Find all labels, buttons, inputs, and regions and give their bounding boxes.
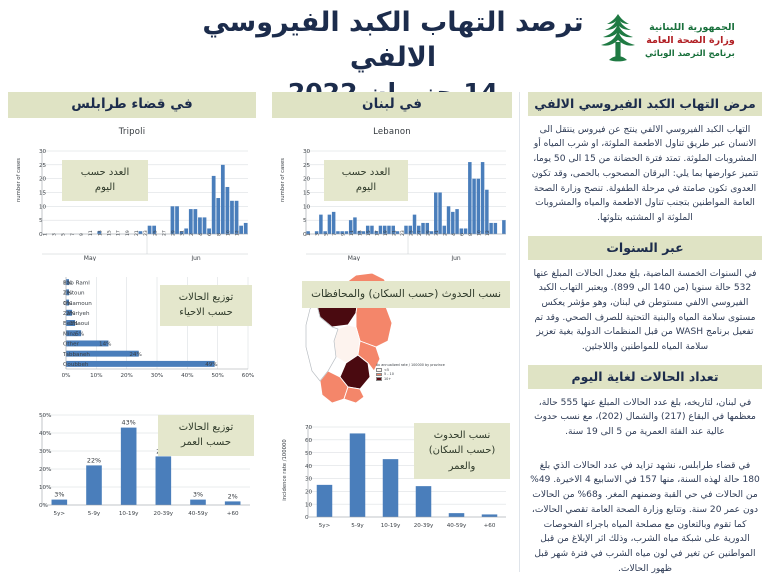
map-legend-row-0: <5: [376, 368, 445, 372]
logo-text: الجمهورية اللبنانية وزارة الصحة العامة ب…: [645, 18, 735, 60]
bar-3: [193, 209, 197, 234]
logo-line-program: برنامج الترصد الوبائي: [645, 48, 735, 60]
datalabel-5-9y: 22%: [87, 456, 101, 464]
svg-text:9: 9: [79, 233, 85, 236]
cat-<5y: <5y: [54, 511, 66, 517]
ytick-15: 15: [303, 190, 311, 196]
xtick-12: 12: [485, 230, 491, 236]
cat-20-39y: 20-39y: [154, 511, 174, 517]
svg-text:27: 27: [417, 230, 423, 236]
map-legend-title: Av annualized rate / 100000 by province: [376, 363, 445, 367]
bar-undefined: [494, 223, 497, 234]
xtick-29: 29: [425, 230, 431, 236]
xtick-40%: 40%: [181, 373, 193, 379]
text-section-heading-1: عبر السنوات: [528, 236, 762, 260]
xtick-0%: 0%: [62, 373, 71, 379]
svg-text:10: 10: [476, 230, 482, 236]
xtick-4: 4: [198, 233, 204, 236]
xtick-13: 13: [97, 230, 103, 236]
svg-text:19: 19: [383, 230, 389, 236]
text-section-body-1: في السنوات الخمسة الماضية، بلغ معدل الحا…: [528, 260, 762, 359]
text-section-body-2: في لبنان، لتاريخه، بلغ عدد الحالات المبل…: [528, 389, 762, 444]
column-tripoli: في قضاء طرابلس Tripoli 051015202530 1357…: [8, 92, 256, 533]
ytick-10: 10: [39, 204, 47, 210]
xtick-23: 23: [143, 230, 149, 236]
svg-text:7: 7: [70, 233, 76, 236]
datalabel-Qoubbeh: 49%: [205, 362, 217, 368]
chart-tripoli-age: 0%10%20%30%40%50% 3%22%43%27%3%2% <5y5-9…: [8, 403, 256, 533]
svg-text:3: 3: [52, 233, 58, 236]
datalabel-Mina: 5%: [75, 331, 84, 337]
svg-text:12: 12: [485, 230, 491, 236]
xtick-5: 5: [323, 233, 329, 236]
xtick-6: 6: [459, 233, 465, 236]
xtick-20%: 20%: [120, 373, 132, 379]
cat-<5y: <5y: [319, 523, 331, 529]
svg-text:29: 29: [171, 230, 177, 236]
datalabel-10-19y: 43%: [122, 418, 136, 426]
svg-text:13: 13: [97, 230, 103, 236]
svg-text:3: 3: [315, 233, 321, 236]
xtick-3: 3: [315, 233, 321, 236]
column-lebanon: في لبنان Lebanon 051015202530 1357911131…: [272, 92, 512, 545]
ytick-20: 20: [303, 177, 311, 183]
chart-tripoli-epicurve: Tripoli 051015202530 1357911131517192123…: [8, 127, 256, 265]
bar-5-9y: [86, 465, 102, 505]
ytick-30: 30: [303, 149, 311, 155]
xtick-1: 1: [42, 233, 48, 236]
svg-text:8: 8: [216, 233, 222, 236]
xtick-2: 2: [189, 233, 195, 236]
ytick-25: 25: [303, 163, 311, 169]
svg-text:27: 27: [161, 230, 167, 236]
datalabel-Zeitoun: 1%: [63, 290, 72, 296]
month-label-jun: Jun: [450, 255, 461, 261]
chart-lebanon-incidence: 010203040506070 <5y5-9y10-19y20-39y40-59…: [272, 415, 512, 545]
bar-10: [477, 179, 480, 234]
column-divider: [519, 92, 520, 572]
xtick-17: 17: [374, 230, 380, 236]
datalabel-Qalamoun: 1%: [63, 301, 72, 307]
xtick-23: 23: [400, 230, 406, 236]
bar-undefined: [502, 220, 505, 234]
svg-text:4: 4: [451, 233, 457, 236]
cat-5-9y: 5-9y: [88, 511, 101, 517]
svg-text:2: 2: [442, 233, 448, 236]
datalabel-40-59y: 3%: [193, 490, 203, 498]
bar-1: [438, 192, 441, 234]
text-section-heading-0: مرض التهاب الكبد الفيروسي الالفي: [528, 92, 762, 116]
svg-text:12: 12: [235, 230, 241, 236]
svg-text:1: 1: [306, 233, 312, 236]
svg-text:25: 25: [152, 230, 158, 236]
bar-20-39y: [156, 456, 172, 505]
cat-Qoubbeh: Qoubbeh: [63, 362, 89, 368]
datalabel-Tabbaneh: 24%: [129, 352, 141, 358]
dashboard-page: ترصد التهاب الكبد الفيروسي الالفي 14 حزي…: [0, 0, 768, 576]
cat-10-19y: 10-19y: [381, 523, 401, 529]
logo-line-ministry: وزارة الصحة العامة: [645, 34, 735, 47]
xtick-15: 15: [106, 230, 112, 236]
legend-swatch-2: [376, 377, 382, 381]
province-nabatieh: [344, 387, 364, 403]
xtick-10: 10: [476, 230, 482, 236]
bar-8: [216, 198, 220, 234]
bar-5: [203, 217, 207, 234]
xtick-30%: 30%: [151, 373, 163, 379]
page-header: ترصد التهاب الكبد الفيروسي الالفي 14 حزي…: [0, 0, 768, 90]
bar-40-59y: [449, 513, 465, 517]
svg-text:15: 15: [366, 230, 372, 236]
xtick-9: 9: [340, 233, 346, 236]
svg-text:29: 29: [425, 230, 431, 236]
ytick-70: 70: [305, 425, 313, 431]
svg-text:2: 2: [189, 233, 195, 236]
xtick-17: 17: [116, 230, 122, 236]
bar-29: [171, 206, 175, 234]
bar-10: [226, 187, 230, 234]
ytick-40%: 40%: [39, 431, 51, 437]
cat-10-19y: 10-19y: [119, 511, 139, 517]
ytick-60: 60: [305, 438, 313, 444]
xtick-27: 27: [417, 230, 423, 236]
bar-<5y: [317, 485, 333, 517]
bar-4: [319, 214, 322, 233]
svg-text:11: 11: [349, 230, 355, 236]
xtick-8: 8: [216, 233, 222, 236]
bar-9: [472, 179, 475, 234]
svg-text:11: 11: [88, 230, 94, 236]
cat-40-59y: 40-59y: [447, 523, 467, 529]
title-line-1: ترصد التهاب الكبد الفيروسي الالفي: [193, 6, 593, 75]
bar-5-9y: [350, 433, 366, 517]
xtick-9: 9: [79, 233, 85, 236]
xtick-31: 31: [434, 230, 440, 236]
bar-40-59y: [190, 499, 206, 504]
bar-7: [332, 212, 335, 234]
xtick-31: 31: [180, 230, 186, 236]
xtick-19: 19: [125, 230, 131, 236]
text-section-body-0: التهاب الكبد الفيروسي الالفي ينتج عن فير…: [528, 116, 762, 230]
datalabel-Zahiriyeh: 2%: [66, 311, 75, 317]
xtick-6: 6: [207, 233, 213, 236]
xtick-13: 13: [357, 230, 363, 236]
bar-5: [455, 209, 458, 234]
xtick-27: 27: [161, 230, 167, 236]
bar-2: [189, 209, 193, 234]
axis-label-incidence-y: incidence rate /100000: [282, 433, 288, 507]
legend-label-2: 10+: [384, 377, 391, 381]
ytick-40: 40: [305, 464, 313, 470]
datalabel-<5y: 3%: [54, 490, 64, 498]
chart-title-lebanon: Lebanon: [272, 127, 512, 137]
svg-text:17: 17: [116, 230, 122, 236]
bar-8: [468, 162, 471, 234]
annotation-tripoli-epicurve: العدد حسب اليوم: [62, 160, 148, 201]
bar-3: [447, 206, 450, 234]
cat-Other: Other: [63, 341, 80, 347]
ytick-10%: 10%: [39, 485, 51, 491]
datalabel-60+: 2%: [228, 492, 238, 500]
legend-label-1: 5 - 10: [384, 372, 394, 376]
legend-swatch-1: [376, 373, 382, 377]
bar-10-19y: [121, 427, 137, 504]
svg-text:21: 21: [134, 230, 140, 236]
logo-line-republic: الجمهورية اللبنانية: [645, 21, 735, 34]
month-label-may: May: [84, 255, 97, 261]
bar-2: [443, 226, 446, 234]
xtick-1: 1: [306, 233, 312, 236]
bar-31: [434, 192, 437, 234]
svg-text:19: 19: [125, 230, 131, 236]
xtick-7: 7: [70, 233, 76, 236]
svg-text:21: 21: [391, 230, 397, 236]
bar-60+: [482, 514, 498, 517]
xtick-7: 7: [332, 233, 338, 236]
svg-text:9: 9: [340, 233, 346, 236]
xtick-2: 2: [442, 233, 448, 236]
annotation-tripoli-neighborhoods: توزيع الحالات حسب الاحياء: [160, 285, 252, 326]
bar-9: [221, 165, 225, 234]
xtick-4: 4: [451, 233, 457, 236]
svg-text:25: 25: [408, 230, 414, 236]
svg-text:15: 15: [106, 230, 112, 236]
xtick-10%: 10%: [90, 373, 102, 379]
bar-12: [485, 190, 488, 234]
ytick-10: 10: [305, 502, 313, 508]
ministry-logo: الجمهورية اللبنانية وزارة الصحة العامة ب…: [596, 8, 762, 70]
bar-11: [230, 201, 234, 234]
xtick-11: 11: [349, 230, 355, 236]
bar-7: [212, 176, 216, 234]
ytick-50: 50: [305, 451, 313, 457]
xtick-19: 19: [383, 230, 389, 236]
xtick-21: 21: [391, 230, 397, 236]
bar-12: [235, 201, 239, 234]
chart-title-tripoli: Tripoli: [8, 127, 256, 137]
chart-lebanon-epicurve: Lebanon 051015202530 1357911131517192123…: [272, 127, 512, 265]
annotation-lebanon-map: نسب الحدوث (حسب السكان) والمحافظات: [302, 281, 510, 308]
ytick-5: 5: [39, 218, 43, 224]
svg-text:31: 31: [434, 230, 440, 236]
datalabel-Bab Raml: 1%: [63, 280, 72, 286]
svg-text:1: 1: [42, 233, 48, 236]
svg-text:23: 23: [400, 230, 406, 236]
xtick-10: 10: [226, 230, 232, 236]
xtick-29: 29: [171, 230, 177, 236]
datalabel-Other: 14%: [99, 341, 111, 347]
ytick-0: 0: [305, 515, 309, 521]
annotation-tripoli-age: توزيع الحالات حسب العمر: [158, 415, 254, 456]
month-label-jun: Jun: [190, 255, 201, 261]
axis-label-tripoli-y: number of cases: [16, 150, 22, 210]
cat-40-59y: 40-59y: [188, 511, 208, 517]
legend-swatch-0: [376, 368, 382, 372]
ytick-20: 20: [305, 489, 313, 495]
column-text: مرض التهاب الكبد الفيروسي الالفيالتهاب ا…: [528, 92, 762, 576]
bar-4: [451, 212, 454, 234]
bar-6: [328, 214, 331, 233]
svg-text:23: 23: [143, 230, 149, 236]
banner-lebanon: في لبنان: [272, 92, 512, 118]
ytick-30: 30: [305, 476, 313, 482]
bar-10-19y: [383, 459, 399, 517]
map-legend-row-1: 5 - 10: [376, 372, 445, 376]
ytick-25: 25: [39, 163, 47, 169]
ytick-5: 5: [303, 218, 307, 224]
ytick-30%: 30%: [39, 449, 51, 455]
cat-60+: 60+: [484, 523, 496, 529]
bar-11: [481, 162, 484, 234]
ytick-20%: 20%: [39, 467, 51, 473]
bar-30: [175, 206, 179, 234]
axis-label-lebanon-y: number of cases: [280, 150, 286, 210]
annotation-lebanon-epicurve: العدد حسب اليوم: [324, 160, 408, 201]
cedar-tree-icon: [596, 12, 640, 66]
chart-tripoli-neighborhoods: Bab RamlZeitounQalamounZahiriyehBeddaoui…: [8, 271, 256, 393]
bar-<5y: [52, 499, 68, 504]
xtick-3: 3: [52, 233, 58, 236]
svg-text:13: 13: [357, 230, 363, 236]
svg-text:6: 6: [207, 233, 213, 236]
cat-20-39y: 20-39y: [414, 523, 434, 529]
ytick-50%: 50%: [39, 413, 51, 419]
ytick-0%: 0%: [39, 503, 48, 509]
xtick-25: 25: [408, 230, 414, 236]
datalabel-Beddaoui: 3%: [69, 321, 78, 327]
xtick-12: 12: [235, 230, 241, 236]
svg-text:5: 5: [61, 233, 67, 236]
text-section-body-3: في قضاء طرابلس، نشهد تزايد في عدد الحالا…: [528, 452, 762, 576]
cat-5-9y: 5-9y: [351, 523, 364, 529]
bar-undefined: [244, 223, 248, 234]
cat-60+: 60+: [227, 511, 239, 517]
banner-tripoli: في قضاء طرابلس: [8, 92, 256, 118]
ytick-20: 20: [39, 177, 47, 183]
xtick-21: 21: [134, 230, 140, 236]
bar-60+: [225, 501, 241, 505]
text-section-heading-2: تعداد الحالات لغاية اليوم: [528, 365, 762, 389]
svg-text:5: 5: [323, 233, 329, 236]
xtick-60%: 60%: [242, 373, 254, 379]
xtick-11: 11: [88, 230, 94, 236]
svg-text:4: 4: [198, 233, 204, 236]
svg-text:31: 31: [180, 230, 186, 236]
xtick-25: 25: [152, 230, 158, 236]
map-legend: Av annualized rate / 100000 by province …: [376, 363, 445, 382]
xtick-8: 8: [468, 233, 474, 236]
map-legend-row-2: 10+: [376, 377, 445, 381]
svg-text:17: 17: [374, 230, 380, 236]
bar-4: [198, 217, 202, 234]
svg-text:8: 8: [468, 233, 474, 236]
xtick-50%: 50%: [211, 373, 223, 379]
ytick-30: 30: [39, 149, 47, 155]
svg-text:10: 10: [226, 230, 232, 236]
svg-text:6: 6: [459, 233, 465, 236]
ytick-10: 10: [303, 204, 311, 210]
bar-20-39y: [416, 486, 432, 517]
chart-lebanon-map: Av annualized rate / 100000 by province …: [272, 267, 512, 407]
xtick-15: 15: [366, 230, 372, 236]
xtick-5: 5: [61, 233, 67, 236]
annotation-lebanon-incidence: نسب الحدوث (حسب السكان) والعمر: [414, 423, 510, 480]
month-label-may: May: [348, 255, 361, 261]
svg-text:7: 7: [332, 233, 338, 236]
ytick-15: 15: [39, 190, 47, 196]
legend-label-0: <5: [384, 368, 389, 372]
